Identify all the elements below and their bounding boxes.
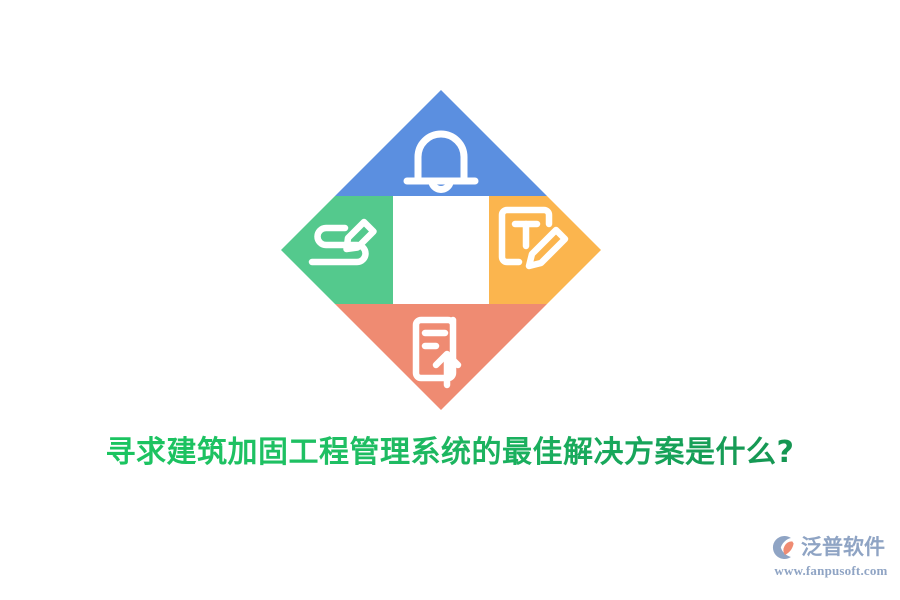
page-canvas: 寻求建筑加固工程管理系统的最佳解决方案是什么? 泛普软件 www.fanpuso… xyxy=(0,0,900,600)
diamond-center-square xyxy=(393,196,489,304)
diamond-svg xyxy=(281,90,601,410)
diamond-quadrant-right[interactable] xyxy=(489,196,601,304)
quadrant-left-shape xyxy=(281,196,393,304)
diamond-quadrant-top[interactable] xyxy=(335,90,547,196)
watermark-brand-row: 泛普软件 xyxy=(770,534,885,561)
diamond-illustration xyxy=(281,90,601,410)
watermark-brand-text: 泛普软件 xyxy=(801,534,885,561)
diamond-quadrant-left[interactable] xyxy=(281,196,393,304)
watermark: 泛普软件 www.fanpusoft.com xyxy=(770,534,890,586)
diamond-quadrant-bottom[interactable] xyxy=(335,304,547,410)
watermark-url: www.fanpusoft.com xyxy=(772,563,890,579)
fanpu-swoosh-logo-icon xyxy=(770,534,797,561)
page-title: 寻求建筑加固工程管理系统的最佳解决方案是什么? xyxy=(0,428,900,478)
